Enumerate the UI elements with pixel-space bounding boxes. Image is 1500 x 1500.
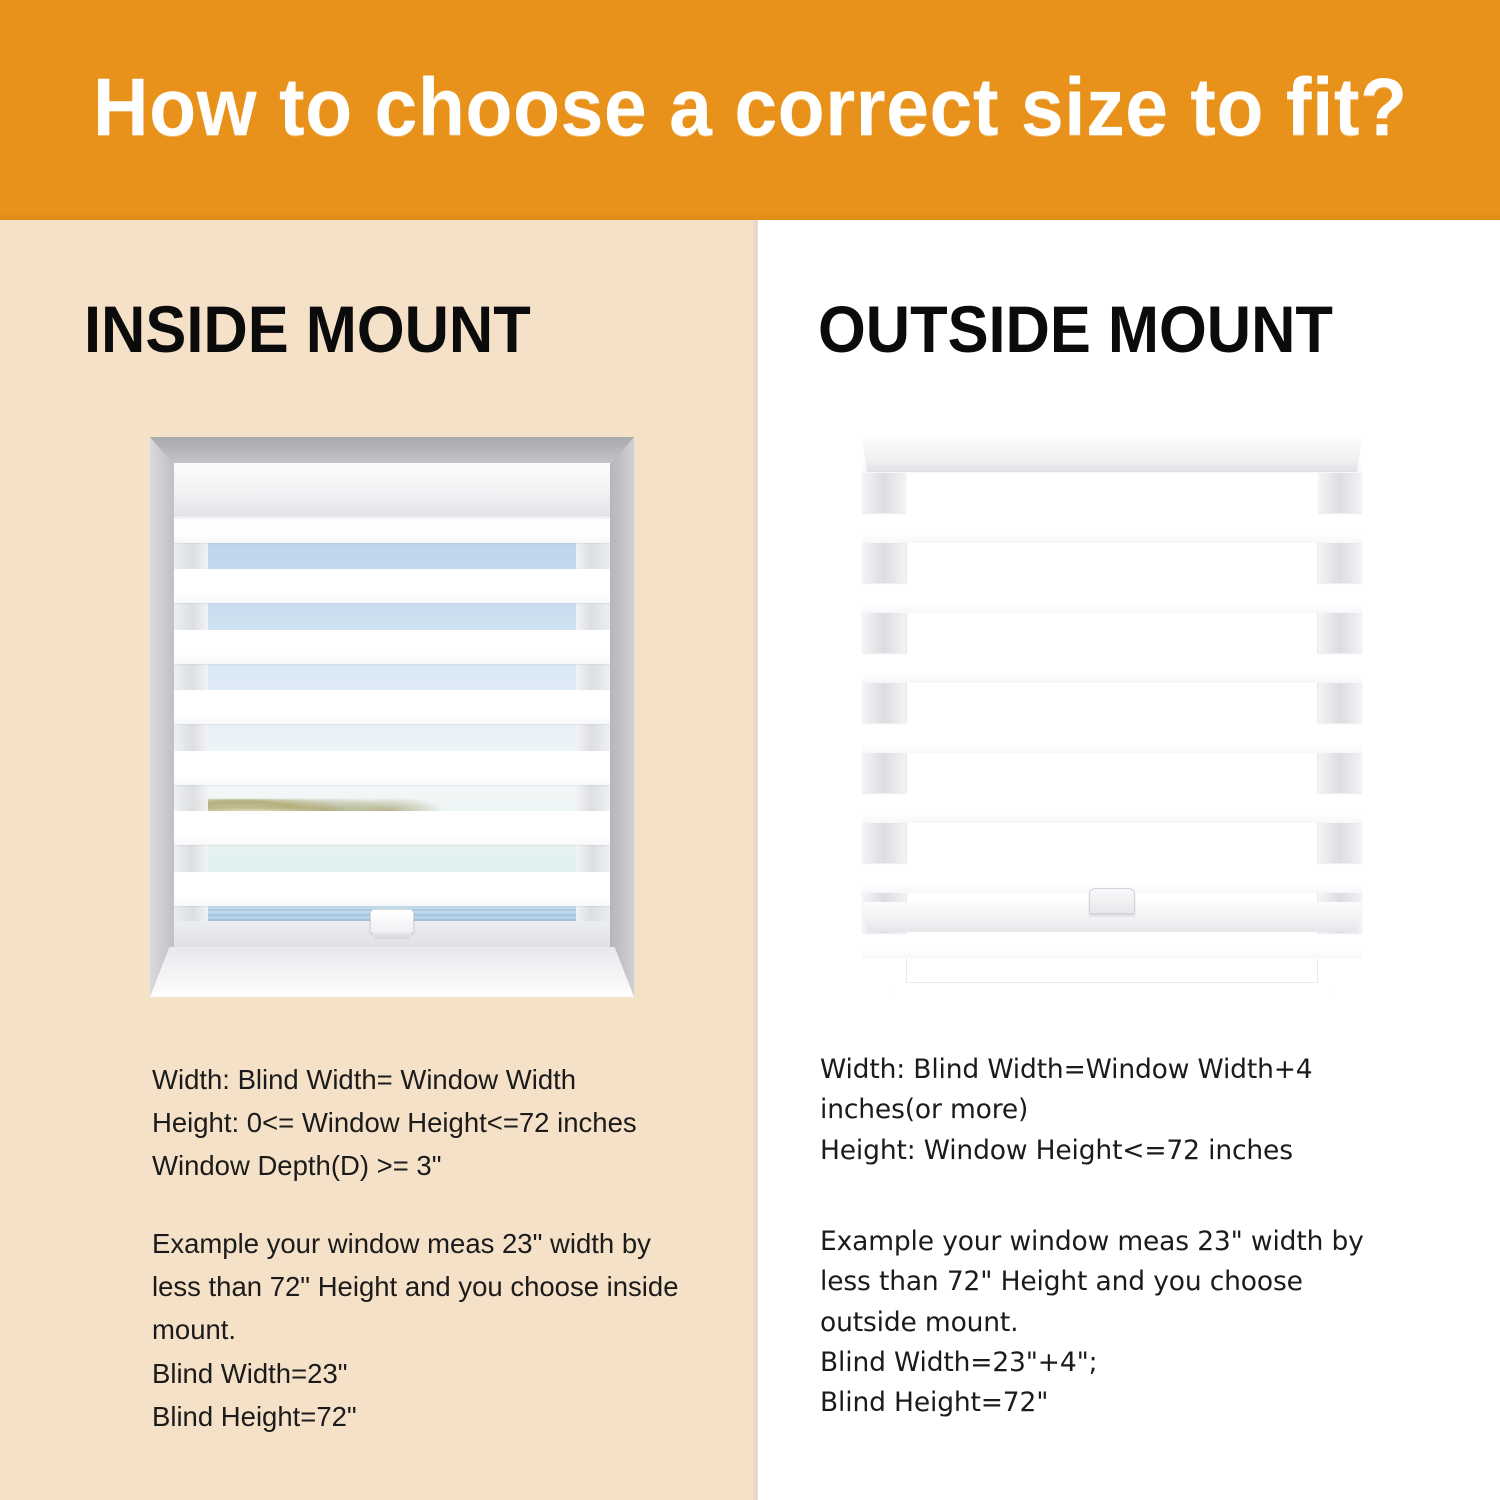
window-handle [1089, 888, 1135, 914]
inside-example-line: less than 72" Height and you choose insi… [152, 1265, 712, 1308]
infographic-page: How to choose a correct size to fit? INS… [0, 0, 1500, 1500]
inside-example-line: Example your window meas 23" width by [152, 1222, 712, 1265]
blind-slat [862, 653, 1362, 684]
inside-mount-window-diagram [150, 437, 634, 997]
inside-spec-line: Window Depth(D) >= 3" [152, 1144, 712, 1187]
blind-headrail [174, 463, 610, 516]
inside-example-line: mount. [152, 1308, 712, 1351]
blind-slat [862, 723, 1362, 754]
blind-headrail [862, 437, 1362, 472]
outside-spec-line: Width: Blind Width=Window Width+4 [820, 1050, 1395, 1090]
blind-slat [174, 630, 610, 664]
window-sill [150, 947, 634, 997]
outside-example-line: Blind Height=72" [820, 1383, 1395, 1423]
inside-spec-line: Width: Blind Width= Window Width [152, 1058, 712, 1101]
blind-fabric-edge [1318, 473, 1362, 512]
inside-spec-line: Height: 0<= Window Height<=72 inches [152, 1101, 712, 1144]
blind-slat-group [174, 463, 610, 947]
inside-mount-heading: INSIDE MOUNT [84, 296, 531, 362]
blind-fabric-edge [1318, 683, 1362, 722]
outside-mount-example: Example your window meas 23" width byles… [820, 1222, 1395, 1423]
page-title: How to choose a correct size to fit? [93, 67, 1408, 149]
header-banner: How to choose a correct size to fit? [0, 0, 1500, 215]
blind-fabric-edge [862, 753, 906, 792]
outside-example-line: Example your window meas 23" width by [820, 1222, 1395, 1262]
blind-fabric-edge [862, 473, 906, 512]
blind-slat [174, 872, 610, 906]
blind-fabric-edge [1318, 753, 1362, 792]
blind-slat [174, 690, 610, 724]
inside-example-line: Blind Height=72" [152, 1395, 712, 1438]
blind-fabric-edge [862, 543, 906, 582]
window-opening [174, 463, 610, 947]
blind-slat [174, 751, 610, 785]
blind-slat-group [862, 437, 1362, 997]
outside-mount-specs: Width: Blind Width=Window Width+4inches(… [820, 1050, 1395, 1171]
outside-mount-window-diagram [862, 437, 1362, 997]
blind-fabric-edge [1318, 613, 1362, 652]
blind-slat [174, 569, 610, 603]
window-reveal-top [150, 437, 634, 463]
window-handle [370, 909, 414, 933]
blind-fabric-edge [1318, 823, 1362, 862]
outside-spec-line: inches(or more) [820, 1090, 1395, 1130]
outside-mount-heading: OUTSIDE MOUNT [818, 296, 1333, 362]
blind-slat [862, 583, 1362, 614]
window-reveal-left [150, 437, 174, 997]
blind-slat [174, 811, 610, 845]
outside-example-line: less than 72" Height and you choose [820, 1262, 1395, 1302]
window-reveal-right [610, 437, 634, 997]
inside-example-line: Blind Width=23" [152, 1352, 712, 1395]
blind-fabric-edge [862, 823, 906, 862]
blind-fabric-edge [1318, 543, 1362, 582]
blind-fabric-edge [862, 613, 906, 652]
blind-slat [862, 793, 1362, 824]
outside-example-line: Blind Width=23"+4"; [820, 1343, 1395, 1383]
outside-spec-line: Height: Window Height<=72 inches [820, 1131, 1395, 1171]
blind-slat [862, 933, 1362, 958]
inside-mount-example: Example your window meas 23" width byles… [152, 1222, 712, 1438]
blind-fabric-edge [862, 683, 906, 722]
outside-example-line: outside mount. [820, 1303, 1395, 1343]
blind-slat [862, 513, 1362, 544]
inside-mount-specs: Width: Blind Width= Window WidthHeight: … [152, 1058, 712, 1188]
